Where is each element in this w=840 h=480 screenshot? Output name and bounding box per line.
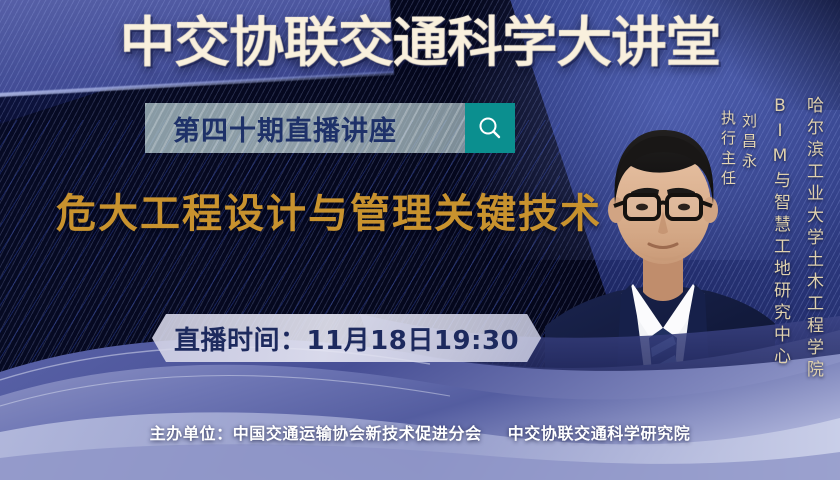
organizer-prefix: 主办单位：	[150, 424, 233, 443]
speaker-role: 执行主任	[718, 110, 739, 190]
lecture-topic: 危大工程设计与管理关键技术	[56, 188, 602, 240]
episode-label: 第四十期直播讲座	[145, 109, 397, 148]
organizer-name-1: 中国交通运输协会新技术促进分会	[233, 424, 482, 443]
speaker-organization: 哈尔滨工业大学土木工程学院	[801, 96, 826, 382]
organizer-name-2: 中交协联交通科学研究院	[508, 424, 691, 443]
speaker-name: 刘昌永	[739, 113, 760, 173]
speaker-info-block: 刘昌永 执行主任 BIM与智慧工地研究中心 哈尔滨工业大学土木工程学院	[718, 96, 826, 382]
page-title-text: 中交协联交通科学大讲堂	[120, 11, 720, 74]
broadcast-time-text: 直播时间：11月18日19:30	[174, 320, 519, 357]
speaker-identity: 刘昌永 执行主任	[718, 96, 760, 190]
page-title: 中交协联交通科学大讲堂	[0, 12, 840, 74]
search-icon-box[interactable]	[465, 103, 515, 153]
live-lecture-poster: 中交协联交通科学大讲堂 第四十期直播讲座 危大工程设计与管理关键技术 直播时间：…	[0, 0, 840, 480]
episode-bar-body: 第四十期直播讲座	[145, 103, 465, 153]
search-icon	[477, 115, 503, 141]
episode-bar: 第四十期直播讲座	[145, 103, 515, 153]
broadcast-time-badge: 直播时间：11月18日19:30	[152, 314, 541, 362]
organizer-credit: 主办单位：中国交通运输协会新技术促进分会中交协联交通科学研究院	[0, 420, 840, 444]
speaker-center: BIM与智慧工地研究中心	[768, 96, 793, 369]
